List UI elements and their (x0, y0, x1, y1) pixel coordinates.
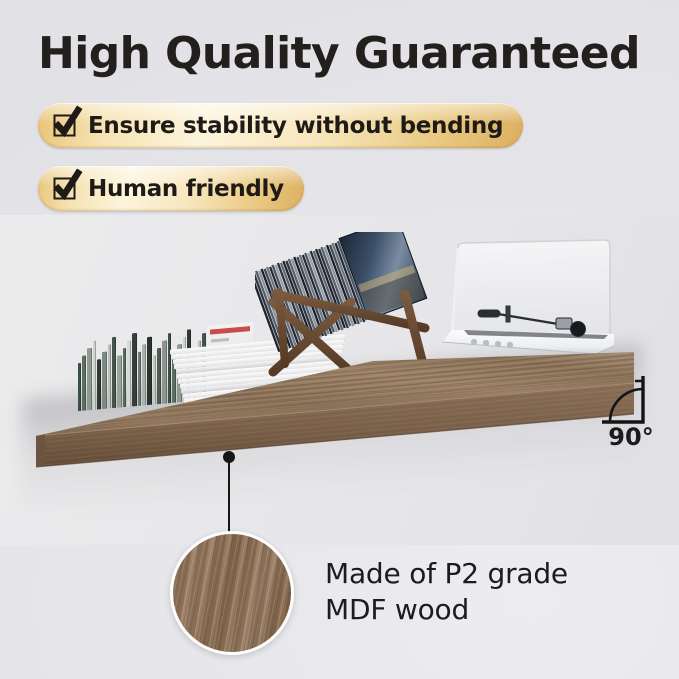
book-spine (78, 363, 81, 411)
feature-pill-human-friendly: Human friendly (38, 166, 304, 211)
book-spine (97, 359, 101, 409)
book-spine (127, 340, 131, 406)
callout-line-2: MDF wood (325, 592, 568, 628)
feature-pill-label: Ensure stability without bending (88, 113, 503, 139)
callout-text: Made of P2 grade MDF wood (325, 556, 568, 628)
book-spine (117, 355, 122, 407)
book-spine (162, 340, 167, 403)
book-spine (87, 348, 92, 410)
book-spine (123, 348, 126, 407)
book-spine (132, 333, 137, 406)
book-spine (112, 337, 116, 408)
checkbox-check-icon (54, 177, 77, 200)
feature-pill-stability: Ensure stability without bending (38, 103, 523, 148)
callout-leader-line (228, 460, 230, 532)
book-spine (108, 344, 111, 408)
callout-line-1: Made of P2 grade (325, 556, 568, 592)
feature-pill-label: Human friendly (88, 176, 284, 202)
checkbox-check-icon (54, 114, 77, 137)
book-spine (142, 344, 146, 405)
page-title: High Quality Guaranteed (38, 28, 640, 79)
record-rack (255, 232, 440, 382)
infographic-canvas: High Quality Guaranteed Ensure stability… (0, 0, 679, 679)
book-spine (82, 355, 86, 410)
book-spine (93, 341, 96, 410)
angle-label: 90° (600, 423, 662, 451)
book-spine (138, 352, 141, 406)
wood-grain-swatch (170, 531, 294, 655)
callout-anchor-dot (223, 451, 235, 463)
book-spine (157, 348, 161, 404)
turntable (418, 238, 623, 363)
book-spine (102, 352, 107, 409)
book-spine (153, 355, 156, 404)
book-spine (147, 337, 152, 405)
